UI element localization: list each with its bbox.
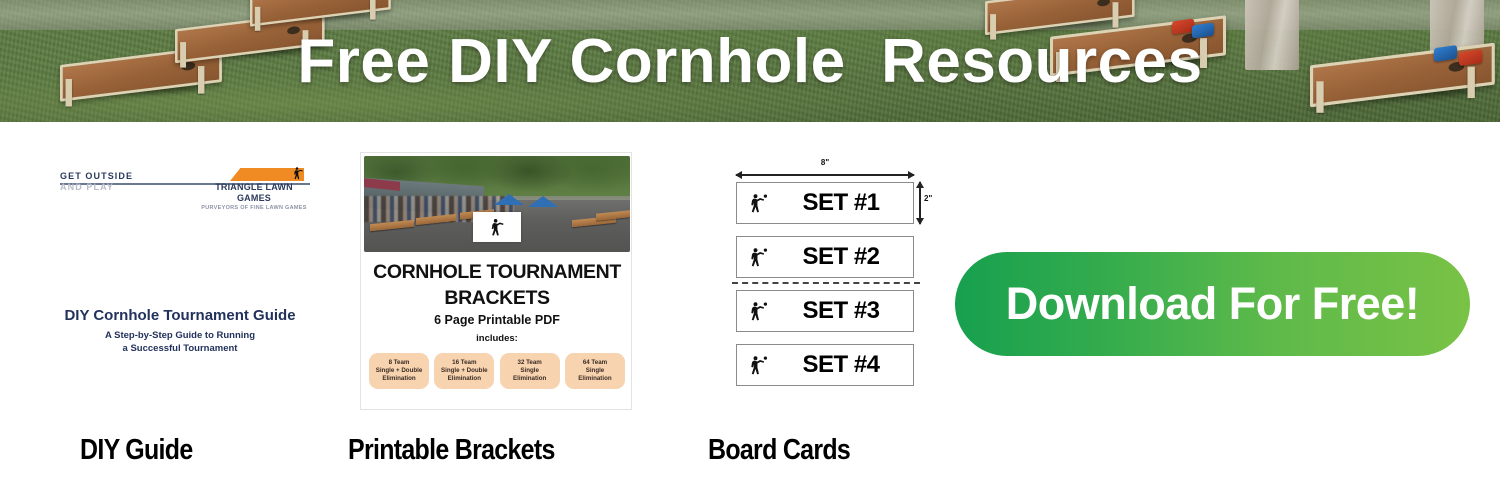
- diy-guide-subtitle-line2: a Successful Tournament: [123, 343, 238, 354]
- pill-teams: 16 Team: [452, 359, 476, 367]
- board-set-label: SET #2: [777, 243, 913, 271]
- board-set-card: SET #1: [736, 182, 914, 224]
- pill-teams: 64 Team: [583, 359, 607, 367]
- diy-guide-title: DIY Cornhole Tournament Guide: [50, 307, 310, 324]
- board-cards-card[interactable]: 8" 2" SET #1 SET #2 SET: [718, 152, 933, 402]
- pill-format2: Elimination: [382, 375, 415, 383]
- brackets-includes-label: includes:: [361, 333, 633, 344]
- pill-teams: 8 Team: [389, 359, 410, 367]
- download-for-free-button[interactable]: Download For Free!: [955, 252, 1470, 356]
- brackets-title: CORNHOLE TOURNAMENT BRACKETS: [365, 259, 629, 311]
- player-silhouette-icon: [737, 294, 777, 328]
- triangle-lawn-games-logo: GET OUTSIDE AND PLAY TRIANGLE LAWN GAMES…: [60, 169, 310, 205]
- printable-brackets-card[interactable]: CORNHOLE TOURNAMENT BRACKETS 6 Page Prin…: [360, 152, 632, 410]
- board-set-label: SET #4: [777, 351, 913, 379]
- hero-banner: Free DIY Cornhole Resources: [0, 0, 1500, 122]
- player-silhouette-icon: [290, 165, 306, 181]
- diy-guide-subtitle: A Step-by-Step Guide to Running a Succes…: [50, 329, 310, 355]
- logo-line-and-play: AND PLAY: [60, 182, 133, 193]
- pill-format1: Single: [520, 367, 539, 375]
- board-set-label: SET #1: [777, 189, 913, 217]
- board-set-card: SET #4: [736, 344, 914, 386]
- height-dimension-label: 2": [924, 194, 932, 203]
- width-dimension-label: 8": [736, 158, 914, 167]
- pill-teams: 32 Team: [518, 359, 542, 367]
- bracket-pill: 16 Team Single + Double Elimination: [434, 353, 494, 389]
- logo-line-get-outside: GET OUTSIDE: [60, 171, 133, 182]
- diy-guide-subtitle-line1: A Step-by-Step Guide to Running: [105, 330, 255, 341]
- board-set-card: SET #3: [736, 290, 914, 332]
- board-set-label: SET #3: [777, 297, 913, 325]
- pill-format2: Elimination: [513, 375, 546, 383]
- pill-format1: Single + Double: [441, 367, 488, 375]
- brackets-pdf-label: 6 Page Printable PDF: [361, 313, 633, 327]
- caption-board-cards: Board Cards: [708, 434, 850, 467]
- logo-brand-block: TRIANGLE LAWN GAMES PURVEYORS OF FINE LA…: [198, 169, 310, 212]
- cut-line: [732, 282, 920, 284]
- tournament-photo: [364, 156, 630, 252]
- diy-guide-card[interactable]: GET OUTSIDE AND PLAY TRIANGLE LAWN GAMES…: [50, 157, 310, 387]
- bracket-pill: 32 Team Single Elimination: [500, 353, 560, 389]
- bracket-pill: 8 Team Single + Double Elimination: [369, 353, 429, 389]
- player-silhouette-icon: [737, 240, 777, 274]
- pill-format1: Single + Double: [376, 367, 423, 375]
- height-dimension-arrow: [919, 182, 921, 224]
- player-silhouette-icon: [737, 186, 777, 220]
- logo-tagline-left: GET OUTSIDE AND PLAY: [60, 171, 133, 193]
- photo-logo-badge: [473, 212, 521, 242]
- bracket-pill: 64 Team Single Elimination: [565, 353, 625, 389]
- content-area: GET OUTSIDE AND PLAY TRIANGLE LAWN GAMES…: [0, 122, 1500, 500]
- width-dimension-arrow: [736, 174, 914, 176]
- logo-brand-tagline: PURVEYORS OF FINE LAWN GAMES: [198, 204, 310, 212]
- promo-page: Free DIY Cornhole Resources GET OUTSIDE …: [0, 0, 1500, 500]
- brackets-title-line1: CORNHOLE TOURNAMENT: [373, 261, 621, 283]
- player-silhouette-icon: [737, 348, 777, 382]
- pill-format1: Single: [586, 367, 605, 375]
- pill-format2: Elimination: [578, 375, 611, 383]
- caption-printable-brackets: Printable Brackets: [348, 434, 555, 467]
- caption-diy-guide: DIY Guide: [80, 434, 193, 467]
- board-set-card: SET #2: [736, 236, 914, 278]
- hero-title: Free DIY Cornhole Resources: [0, 0, 1500, 122]
- logo-brand-name: TRIANGLE LAWN GAMES: [198, 182, 310, 204]
- pill-format2: Elimination: [448, 375, 481, 383]
- brackets-title-line2: BRACKETS: [444, 287, 549, 309]
- player-silhouette-icon: [484, 216, 510, 238]
- brackets-pill-list: 8 Team Single + Double Elimination 16 Te…: [369, 353, 625, 389]
